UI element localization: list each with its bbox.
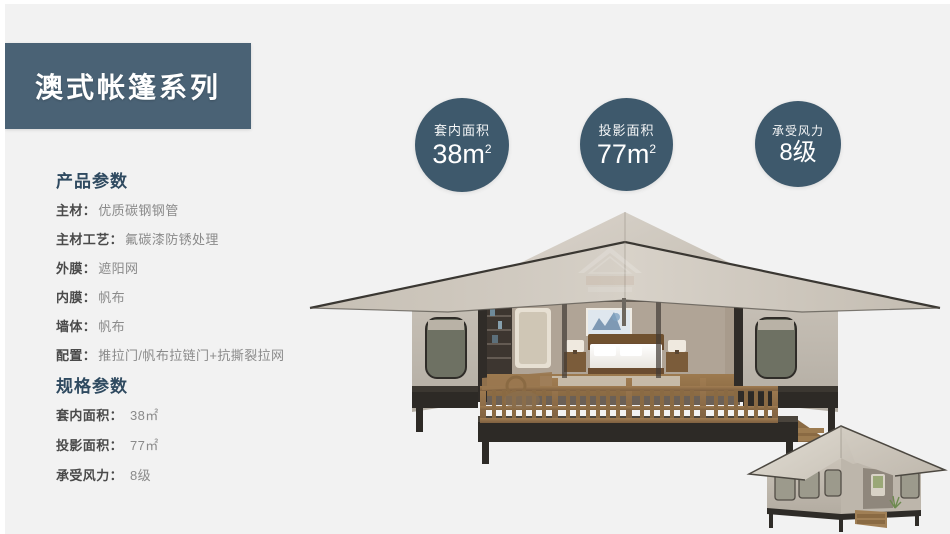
spec-param-label: 套内面积：: [56, 405, 123, 424]
top-gutter: [0, 0, 950, 4]
stat-circle-label: 投影面积: [598, 120, 654, 139]
product-param-value: 推拉门/帆布拉链门+抗撕裂拉网: [98, 345, 284, 364]
stat-circle-value: 77m2: [597, 140, 656, 170]
product-param-value: 优质碳钢钢管: [98, 200, 178, 219]
stat-circle-value: 8级: [779, 140, 816, 166]
spec-param-value: 77㎡: [130, 435, 159, 454]
product-param-label: 配置：: [56, 345, 96, 364]
stat-circle-label: 套内面积: [434, 120, 490, 139]
product-param-label: 内膜：: [56, 287, 96, 306]
product-section-heading: 产品参数: [56, 167, 128, 192]
spec-param-value: 38㎡: [130, 405, 159, 424]
secondary-tent-image: [745, 412, 950, 534]
product-param-label: 主材工艺：: [56, 229, 123, 248]
product-param-value: 帆布: [98, 316, 125, 335]
product-param-label: 主材：: [56, 200, 96, 219]
product-param-row: 墙体：帆布: [56, 316, 284, 345]
slide-canvas: 澳式帐篷系列 产品参数 主材：优质碳钢钢管主材工艺：氟碳漆防锈处理外膜：遮阳网内…: [0, 0, 950, 534]
stat-circle-projected-area: 投影面积77m2: [580, 98, 673, 191]
product-param-row: 内膜：帆布: [56, 287, 284, 316]
spec-section-heading: 规格参数: [56, 372, 128, 397]
product-param-label: 外膜：: [56, 258, 96, 277]
product-param-row: 主材工艺：氟碳漆防锈处理: [56, 229, 284, 258]
series-title-banner: 澳式帐篷系列: [5, 43, 251, 129]
left-gutter: [0, 0, 5, 534]
stat-circle-label: 承受风力: [772, 122, 824, 139]
series-title-text: 澳式帐篷系列: [35, 66, 221, 106]
product-param-value: 帆布: [98, 287, 125, 306]
spec-param-row: 投影面积：77㎡: [56, 435, 159, 465]
product-param-value: 氟碳漆防锈处理: [125, 229, 219, 248]
product-parameter-list: 主材：优质碳钢钢管主材工艺：氟碳漆防锈处理外膜：遮阳网内膜：帆布墙体：帆布配置：…: [56, 200, 284, 374]
product-param-value: 遮阳网: [98, 258, 138, 277]
tent-roof: [310, 212, 940, 326]
product-param-row: 外膜：遮阳网: [56, 258, 284, 287]
spec-param-label: 承受风力：: [56, 465, 123, 484]
spec-param-label: 投影面积：: [56, 435, 123, 454]
stat-circle-interior-area: 套内面积38m2: [415, 98, 509, 192]
product-param-row: 主材：优质碳钢钢管: [56, 200, 284, 229]
stat-circle-value: 38m2: [432, 140, 491, 170]
spec-param-row: 承受风力：8级: [56, 465, 159, 495]
product-param-label: 墙体：: [56, 316, 96, 335]
spec-parameter-list: 套内面积：38㎡投影面积：77㎡承受风力：8级: [56, 405, 159, 495]
product-param-row: 配置：推拉门/帆布拉链门+抗撕裂拉网: [56, 345, 284, 374]
stat-circle-wind-rating: 承受风力8级: [755, 101, 841, 187]
spec-param-row: 套内面积：38㎡: [56, 405, 159, 435]
spec-param-value: 8级: [130, 465, 151, 484]
